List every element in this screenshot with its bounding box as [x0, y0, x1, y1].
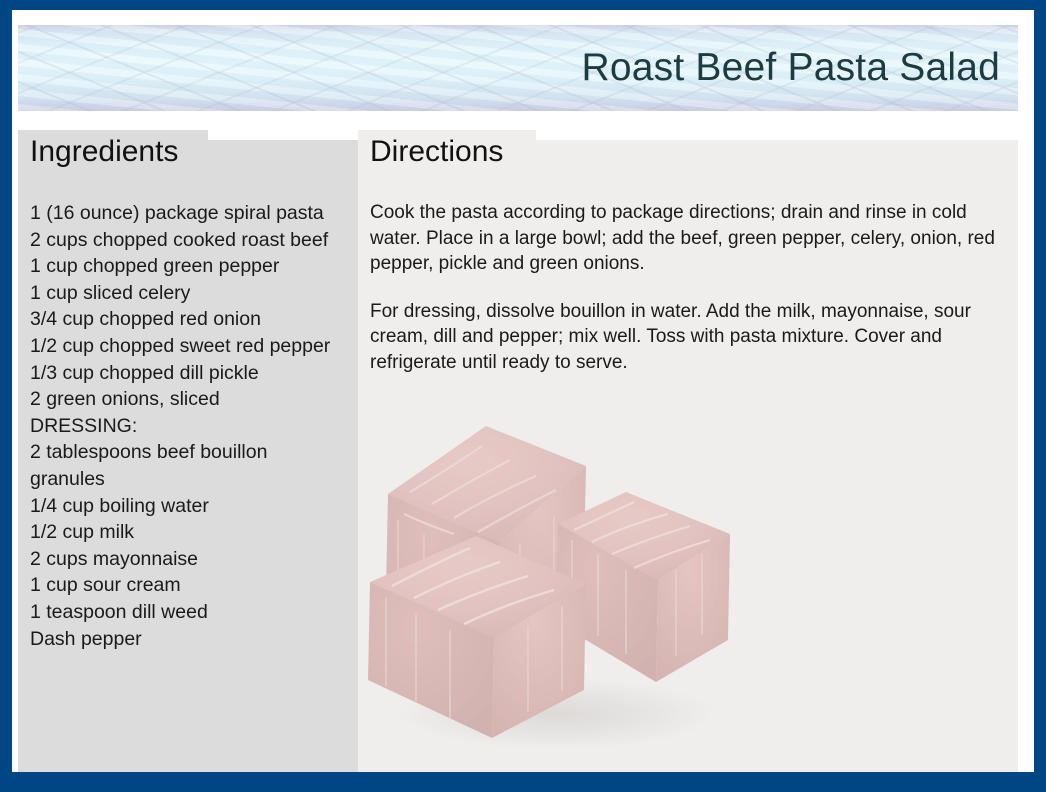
directions-heading: Directions — [370, 135, 503, 169]
list-item: 1 (16 ounce) package spiral pasta — [30, 200, 347, 227]
directions-text: Cook the pasta according to package dire… — [358, 174, 1018, 375]
direction-paragraph: For dressing, dissolve bouillon in water… — [370, 299, 1004, 376]
raw-beef-cubes-photo — [358, 394, 758, 764]
list-item: Dash pepper — [30, 626, 347, 653]
list-item: 1/2 cup milk — [30, 519, 347, 546]
recipe-body: Ingredients 1 (16 ounce) package spiral … — [12, 122, 1034, 772]
list-item: 1/3 cup chopped dill pickle — [30, 360, 347, 387]
directions-heading-tab: Directions — [358, 130, 536, 174]
list-item: 1 teaspoon dill weed — [30, 599, 347, 626]
list-item: 2 green onions, sliced — [30, 386, 347, 413]
list-item: 1 cup chopped green pepper — [30, 253, 347, 280]
list-item: 3/4 cup chopped red onion — [30, 306, 347, 333]
ingredients-heading: Ingredients — [30, 135, 178, 169]
list-item-dressing-label: DRESSING: — [30, 413, 347, 440]
chef-watermark-logo — [906, 750, 1028, 772]
direction-paragraph: Cook the pasta according to package dire… — [370, 200, 1004, 277]
page-title: Roast Beef Pasta Salad — [582, 46, 1001, 90]
list-item: 1/2 cup chopped sweet red pepper — [30, 333, 347, 360]
ingredients-panel: Ingredients 1 (16 ounce) package spiral … — [18, 140, 361, 772]
list-item: 1 cup sour cream — [30, 572, 347, 599]
list-item: 2 cups chopped cooked roast beef — [30, 227, 347, 254]
title-banner: Roast Beef Pasta Salad — [18, 25, 1018, 111]
list-item: 2 cups mayonnaise — [30, 546, 347, 573]
list-item: 1 cup sliced celery — [30, 280, 347, 307]
list-item: 2 tablespoons beef bouillon granules — [30, 439, 347, 492]
list-item: 1/4 cup boiling water — [30, 493, 347, 520]
recipe-card-inner: Roast Beef Pasta Salad Ingredients 1 (16… — [12, 10, 1034, 772]
ingredients-heading-tab: Ingredients — [18, 130, 208, 174]
ingredients-list: 1 (16 ounce) package spiral pasta 2 cups… — [18, 174, 361, 652]
recipe-card: Roast Beef Pasta Salad Ingredients 1 (16… — [0, 0, 1046, 792]
